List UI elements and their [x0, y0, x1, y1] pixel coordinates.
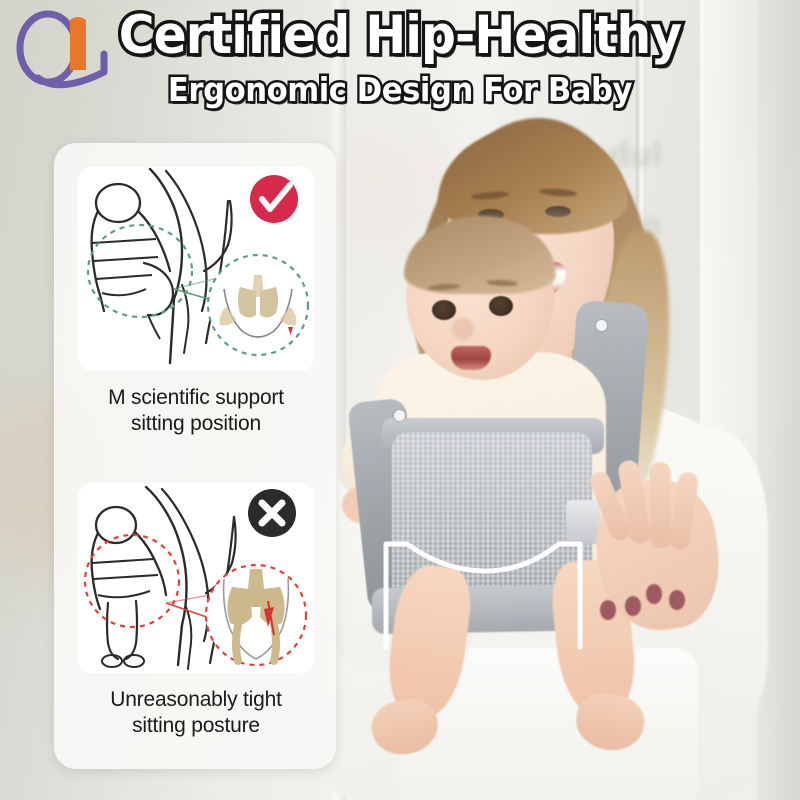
- baby-nose: [452, 318, 474, 340]
- correct-posture-drawing: [78, 167, 314, 371]
- caption-correct-line2: sitting position: [78, 411, 314, 437]
- promo-banner: lubs niml: [0, 0, 800, 800]
- caption-correct-line1: M scientific support: [78, 385, 314, 411]
- baby-eye-left: [432, 300, 456, 320]
- banner-subtitle: Ergonomic Design For Baby: [28, 72, 772, 108]
- woman-nail-4: [600, 600, 616, 620]
- carrier-buckle: [566, 500, 600, 544]
- woman-nail-2: [669, 590, 685, 610]
- woman-finger-3: [649, 462, 671, 548]
- carrier-snap-right: [596, 320, 607, 331]
- pelvis-zoom-circle: [208, 255, 308, 355]
- cross-badge-icon: [248, 489, 296, 537]
- carrier-snap-left: [394, 410, 405, 421]
- banner-title: Certified Hip-Healthy: [32, 8, 768, 64]
- subtitle-wrap: Ergonomic Design For Baby: [0, 72, 800, 108]
- baby-mouth: [451, 346, 491, 370]
- woman-nail-1: [646, 584, 662, 604]
- caption-incorrect: Unreasonably tight sitting posture: [78, 687, 314, 739]
- hip-warning-ellipse: [85, 535, 179, 627]
- info-card-incorrect: Unreasonably tight sitting posture: [78, 483, 314, 739]
- info-card-correct: M scientific support sitting position: [78, 167, 314, 437]
- woman-eye-right: [545, 206, 571, 217]
- title-wrap: Certified Hip-Healthy: [0, 8, 800, 64]
- incorrect-posture-drawing: [78, 483, 314, 673]
- hip-highlight-ellipse: [88, 225, 192, 317]
- caption-incorrect-line2: sitting posture: [78, 713, 314, 739]
- illustration-incorrect-posture: [78, 483, 314, 673]
- info-panel: M scientific support sitting position: [54, 143, 336, 769]
- woman-nail-3: [625, 596, 641, 616]
- baby-eye-right: [489, 296, 513, 316]
- illustration-correct-posture: [78, 167, 314, 371]
- caption-incorrect-line1: Unreasonably tight: [78, 687, 314, 713]
- check-badge-icon: [250, 175, 298, 223]
- caption-correct: M scientific support sitting position: [78, 385, 314, 437]
